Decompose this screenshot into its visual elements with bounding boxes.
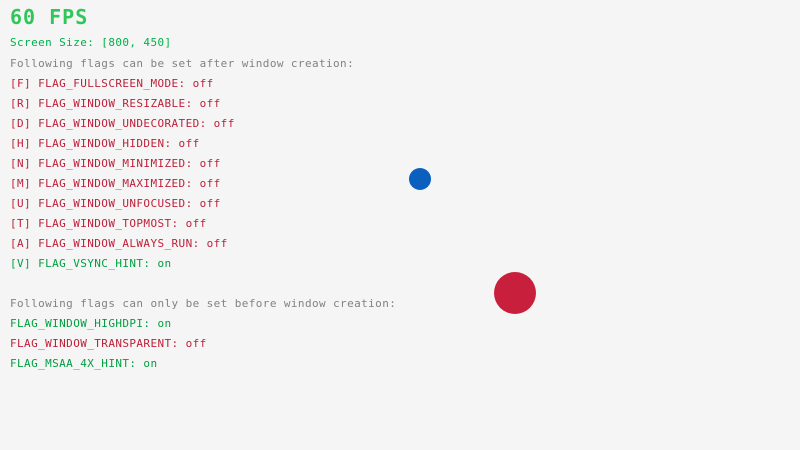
red-ball <box>494 272 536 314</box>
flag-row[interactable]: [F] FLAG_FULLSCREEN_MODE: off <box>10 78 214 90</box>
flag-row[interactable]: [M] FLAG_WINDOW_MAXIMIZED: off <box>10 178 221 190</box>
flag-row[interactable]: [A] FLAG_WINDOW_ALWAYS_RUN: off <box>10 238 228 250</box>
runtime-flags-header: Following flags can be set after window … <box>10 58 354 70</box>
flag-row[interactable]: [H] FLAG_WINDOW_HIDDEN: off <box>10 138 200 150</box>
flag-row[interactable]: [V] FLAG_VSYNC_HINT: on <box>10 258 172 270</box>
raylib-window-canvas[interactable]: 60 FPS Screen Size: [800, 450] Following… <box>0 0 800 450</box>
flag-row[interactable]: [T] FLAG_WINDOW_TOPMOST: off <box>10 218 207 230</box>
flag-row[interactable]: [N] FLAG_WINDOW_MINIMIZED: off <box>10 158 221 170</box>
screen-size-readout: Screen Size: [800, 450] <box>10 37 172 49</box>
fps-counter: 60 FPS <box>10 7 88 27</box>
flag-row[interactable]: FLAG_WINDOW_HIGHDPI: on <box>10 318 172 330</box>
creation-flags-header: Following flags can only be set before w… <box>10 298 396 310</box>
flag-row[interactable]: [R] FLAG_WINDOW_RESIZABLE: off <box>10 98 221 110</box>
flag-row[interactable]: FLAG_WINDOW_TRANSPARENT: off <box>10 338 207 350</box>
flag-row[interactable]: FLAG_MSAA_4X_HINT: on <box>10 358 157 370</box>
blue-ball <box>409 168 431 190</box>
flag-row[interactable]: [D] FLAG_WINDOW_UNDECORATED: off <box>10 118 235 130</box>
flag-row[interactable]: [U] FLAG_WINDOW_UNFOCUSED: off <box>10 198 221 210</box>
